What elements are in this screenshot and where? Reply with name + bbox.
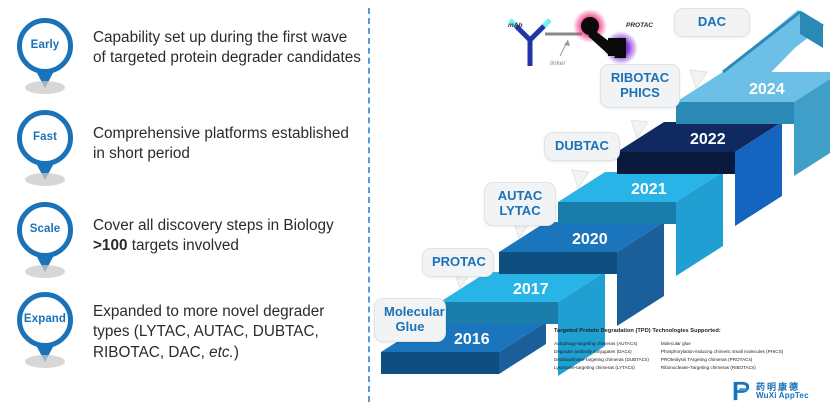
molecule-label-protac: PROTAC: [626, 22, 653, 29]
molecule-illustration: mAb PROTAC linker: [490, 4, 660, 78]
left-bullet-panel: Early Capability set up during the first…: [0, 0, 366, 410]
pin-marker-scale: Scale: [14, 202, 80, 280]
expand-text-suffix: ): [234, 344, 239, 361]
tpd-right-column: Molecular glue Phosphorylation-inducing …: [661, 340, 783, 372]
pin-shadow: [25, 81, 65, 94]
callout-dac[interactable]: DAC: [674, 8, 750, 37]
pin-shadow: [25, 355, 65, 368]
tpd-item: Phosphorylation-inducing chimeric small …: [661, 348, 783, 356]
year-label-2022: 2022: [690, 131, 726, 148]
pin-marker-fast: Fast: [14, 110, 80, 188]
bullet-text-fast: Comprehensive platforms established in s…: [93, 124, 363, 165]
tpd-left-column: Autophagy-targeting chimeras (AUTACs) De…: [554, 340, 649, 372]
tpd-item: Autophagy-targeting chimeras (AUTACs): [554, 340, 649, 348]
pin-shadow: [25, 173, 65, 186]
slide-root: Early Capability set up during the first…: [0, 0, 830, 410]
pin-label-scale: Scale: [30, 224, 61, 236]
bullet-text-early: Capability set up during the first wave …: [93, 28, 363, 69]
year-label-2020: 2020: [572, 231, 608, 248]
callout-autac-lytac[interactable]: AUTAC LYTAC: [484, 182, 556, 226]
bullet-text-expand: Expanded to more novel degrader types (L…: [93, 302, 363, 363]
pin-circle: Fast: [17, 110, 73, 166]
molecule-label-mab: mAb: [508, 22, 522, 29]
tpd-item: Molecular glue: [661, 340, 783, 348]
tpd-title: Targeted Protein Degradation (TPD) Techn…: [554, 328, 830, 334]
bullet-text-scale: Cover all discovery steps in Biology >10…: [93, 216, 363, 257]
year-label-2016: 2016: [454, 331, 490, 348]
year-label-2017: 2017: [513, 281, 549, 298]
pin-circle: Expand: [17, 292, 73, 348]
expand-text-italic: etc.: [209, 344, 234, 361]
molecule-label-linker: linker: [550, 60, 566, 67]
staircase-panel: 2016 2017 2020 2021 2022 2024 Molecular …: [368, 0, 830, 410]
callout-protac[interactable]: PROTAC: [422, 248, 494, 277]
tpd-item: Ribonuclease-Targeting chimeras (RIBOTAC…: [661, 364, 783, 372]
callout-molecular-glue[interactable]: Molecular Glue: [374, 298, 446, 342]
logo-text-english: WuXi AppTec: [756, 392, 809, 400]
pin-label-fast: Fast: [33, 132, 57, 144]
scale-text-prefix: Cover all discovery steps in Biology: [93, 217, 334, 234]
tpd-item: Degrader antibody conjugates (DACs): [554, 348, 649, 356]
tpd-item: Lysosome-targeting chimeras (LYTACs): [554, 364, 649, 372]
tpd-technologies-block: Targeted Protein Degradation (TPD) Techn…: [554, 328, 830, 372]
pin-shadow: [25, 265, 65, 278]
scale-text-suffix: targets involved: [127, 237, 238, 254]
pin-marker-early: Early: [14, 18, 80, 96]
pin-label-early: Early: [31, 40, 60, 52]
logo-text: 药明康德 WuXi AppTec: [756, 383, 809, 400]
year-label-2021: 2021: [631, 181, 667, 198]
scale-text-bold: >100: [93, 237, 127, 254]
pin-circle: Early: [17, 18, 73, 74]
pin-label-expand: Expand: [24, 314, 66, 326]
tpd-item: PROteolysis TArgeting chimeras (PROTACs): [661, 356, 783, 364]
wuxi-apptec-logo: 药明康德 WuXi AppTec: [730, 378, 826, 404]
tpd-item: Deubiquitinase-targeting chimeras (DUBTA…: [554, 356, 649, 364]
pin-marker-expand: Expand: [14, 292, 80, 370]
pin-circle: Scale: [17, 202, 73, 258]
callout-dubtac[interactable]: DUBTAC: [544, 132, 620, 161]
wuxi-logo-mark-icon: [730, 380, 752, 402]
year-label-2024: 2024: [749, 81, 785, 98]
